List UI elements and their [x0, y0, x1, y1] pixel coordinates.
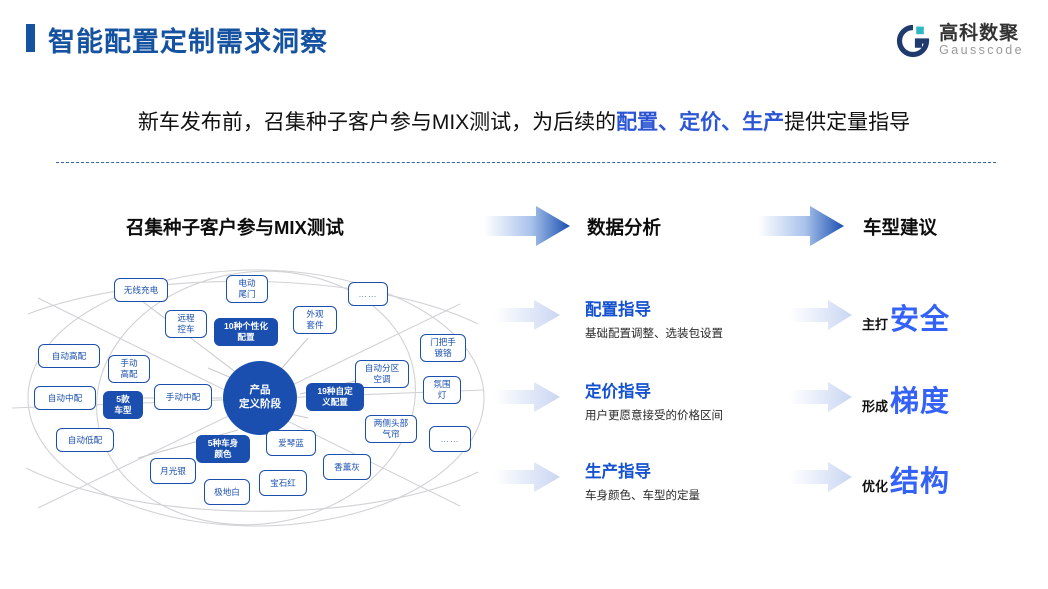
- mindmap-node: 自动低配: [56, 428, 114, 452]
- guidance-subtitle: 车身颜色、车型的定量: [585, 487, 700, 503]
- mindmap-node: ……: [348, 282, 388, 306]
- guidance-subtitle: 基础配置调整、选装包设置: [585, 325, 723, 341]
- mindmap-node: 自动高配: [38, 344, 100, 368]
- advice-prefix: 形成: [862, 396, 888, 415]
- row-arrow-left-3: [494, 462, 560, 492]
- advice-item-gradient: 形成 梯度: [862, 378, 950, 420]
- hub-line-1: 产品: [250, 384, 271, 398]
- mindmap-node: 极地白: [204, 479, 250, 505]
- row-arrow-left-1: [494, 300, 560, 330]
- mindmap-node: 19种自定 义配置: [306, 383, 364, 411]
- advice-prefix: 优化: [862, 476, 888, 495]
- advice-keyword: 结构: [890, 458, 950, 500]
- mindmap-node: 氛围 灯: [423, 376, 461, 404]
- subtitle-part2: 提供定量指导: [784, 111, 910, 134]
- guidance-subtitle: 用户更愿意接受的价格区间: [585, 407, 723, 423]
- mindmap-node: 远程 控车: [165, 310, 207, 338]
- section-divider: [56, 162, 996, 163]
- mindmap-node: 自动中配: [34, 386, 96, 410]
- mindmap-node: 爱琴蓝: [266, 430, 316, 456]
- mindmap-node: 5种车身 颜色: [196, 435, 250, 463]
- mindmap-node: 门把手 镀铬: [420, 334, 466, 362]
- subtitle-highlight: 配置、定价、生产: [616, 111, 784, 134]
- advice-item-safety: 主打 安全: [862, 296, 950, 338]
- title-marker-bar: [26, 24, 35, 52]
- mindmap-node: 宝石红: [259, 470, 307, 496]
- mindmap-node: 两侧头部 气帘: [365, 415, 417, 443]
- column-heading-advice: 车型建议: [863, 214, 937, 240]
- mindmap-node: 无线充电: [114, 278, 168, 302]
- guidance-item-pricing: 定价指导 用户更愿意接受的价格区间: [585, 378, 723, 423]
- mindmap-diagram: 产品 定义阶段 无线充电电动 尾门……远程 控车外观 套件10种个性化 配置门把…: [8, 258, 488, 536]
- subtitle-part1: 新车发布前，召集种子客户参与MIX测试，为后续的: [138, 111, 616, 134]
- mindmap-node: 10种个性化 配置: [214, 318, 278, 346]
- gausscode-g-icon: [896, 24, 930, 58]
- brand-logo: 高科数聚 Gausscode: [896, 18, 1024, 64]
- column-heading-collect: 召集种子客户参与MIX测试: [126, 214, 344, 240]
- guidance-title: 定价指导: [585, 378, 723, 402]
- mindmap-node: ……: [429, 426, 471, 452]
- mindmap-node: 电动 尾门: [226, 275, 268, 303]
- page-title: 智能配置定制需求洞察: [48, 20, 328, 59]
- guidance-title: 配置指导: [585, 296, 723, 320]
- mindmap-node: 月光银: [150, 458, 196, 484]
- advice-prefix: 主打: [862, 314, 888, 333]
- flow-arrow-collect-to-analysis: [484, 206, 570, 246]
- mindmap-hub: 产品 定义阶段: [223, 361, 297, 435]
- column-heading-analysis: 数据分析: [587, 214, 661, 240]
- row-arrow-right-2: [790, 382, 852, 412]
- logo-name-en: Gausscode: [939, 44, 1024, 57]
- slide-header: 智能配置定制需求洞察 高科数聚 Gausscode: [0, 0, 1048, 78]
- flow-arrow-analysis-to-advice: [758, 206, 844, 246]
- guidance-item-production: 生产指导 车身颜色、车型的定量: [585, 458, 700, 503]
- advice-item-structure: 优化 结构: [862, 458, 950, 500]
- logo-name-cn: 高科数聚: [939, 24, 1024, 44]
- mindmap-node: 手动中配: [154, 384, 212, 410]
- mindmap-node: 外观 套件: [293, 306, 337, 334]
- advice-keyword: 安全: [890, 296, 950, 338]
- mindmap-node: 香薰灰: [323, 454, 371, 480]
- row-arrow-left-2: [494, 382, 560, 412]
- advice-keyword: 梯度: [890, 378, 950, 420]
- mindmap-node: 手动 高配: [108, 355, 150, 383]
- hub-line-2: 定义阶段: [239, 398, 281, 412]
- row-arrow-right-3: [790, 462, 852, 492]
- mindmap-node: 5款 车型: [103, 391, 143, 419]
- guidance-item-configuration: 配置指导 基础配置调整、选装包设置: [585, 296, 723, 341]
- mindmap-node: 自动分区 空调: [355, 360, 409, 388]
- row-arrow-right-1: [790, 300, 852, 330]
- guidance-title: 生产指导: [585, 458, 700, 482]
- subtitle: 新车发布前，召集种子客户参与MIX测试，为后续的配置、定价、生产提供定量指导: [0, 106, 1048, 136]
